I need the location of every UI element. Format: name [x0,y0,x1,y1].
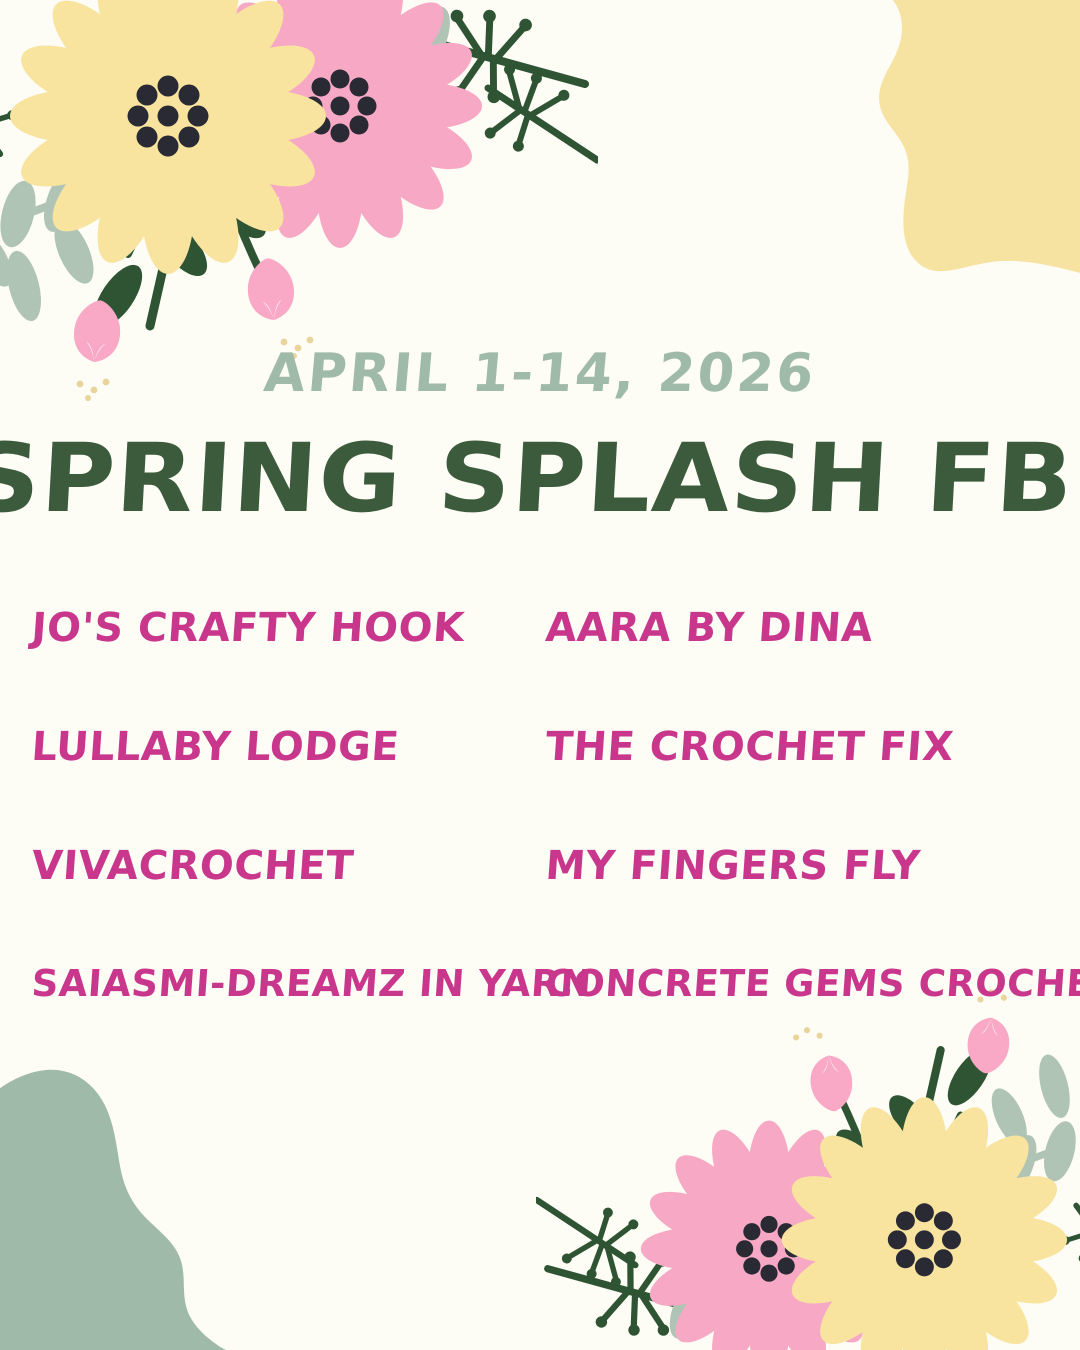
page-title: SPRING SPLASH FB HOP [0,432,1080,527]
event-date: APRIL 1-14, 2026 [0,347,1080,400]
participant-name[interactable]: SAIASMI-DREAMZ IN YARN [0,965,524,1002]
participant-name[interactable]: MY FINGERS FLY [521,846,1080,886]
participant-name[interactable]: LULLABY LODGE [0,727,524,767]
participants-grid: JO'S CRAFTY HOOK AARA BY DINA LULLABY LO… [0,608,1080,1084]
participant-name[interactable]: AARA BY DINA [521,608,1080,648]
table-row: LULLABY LODGE THE CROCHET FIX [0,727,1080,846]
participant-name[interactable]: CONCRETE GEMS CROCHET [521,965,1080,1002]
participant-name[interactable]: THE CROCHET FIX [521,727,1080,767]
text-layer: APRIL 1-14, 2026 SPRING SPLASH FB HOP JO… [0,0,1080,1350]
poster-canvas: APRIL 1-14, 2026 SPRING SPLASH FB HOP JO… [0,0,1080,1350]
participant-name[interactable]: JO'S CRAFTY HOOK [0,608,524,648]
table-row: JO'S CRAFTY HOOK AARA BY DINA [0,608,1080,727]
participant-name[interactable]: VIVACROCHET [0,846,524,886]
table-row: SAIASMI-DREAMZ IN YARN CONCRETE GEMS CRO… [0,965,1080,1084]
table-row: VIVACROCHET MY FINGERS FLY [0,846,1080,965]
